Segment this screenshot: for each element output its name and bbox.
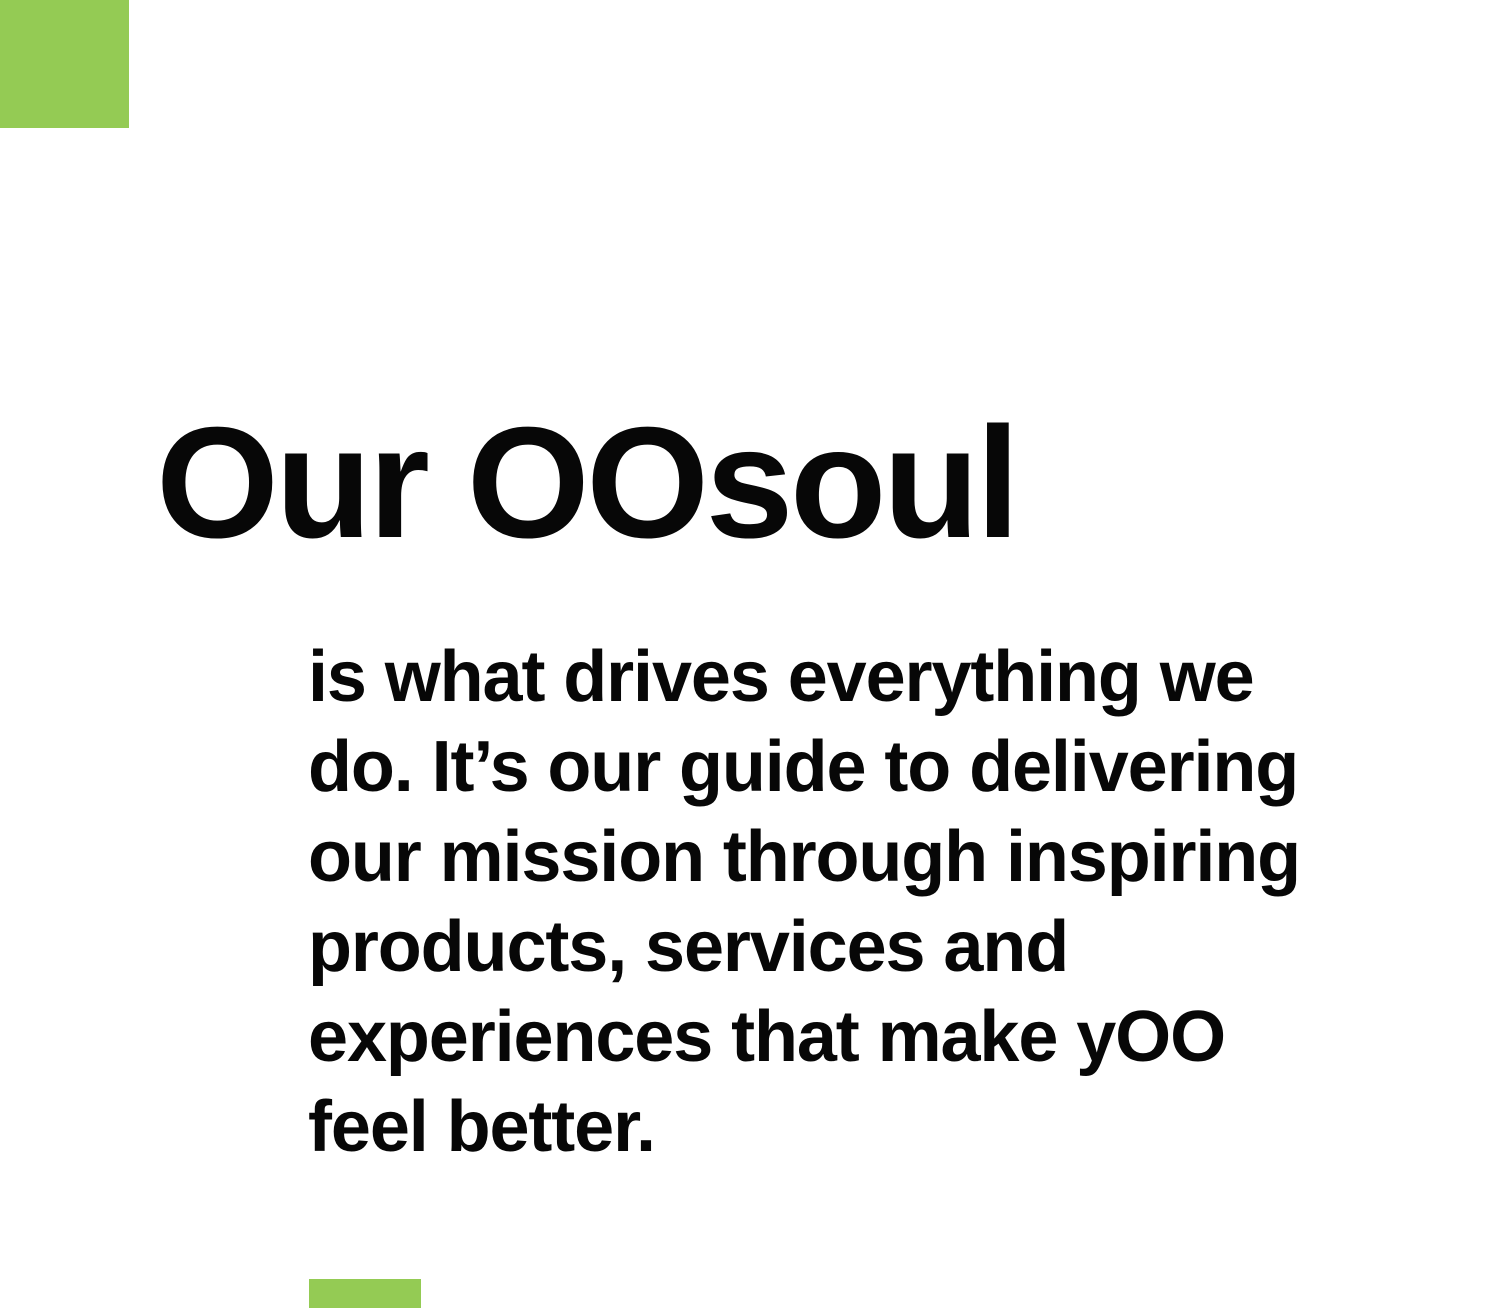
slide-canvas: Our OOsoul is what drives everything we … <box>0 0 1500 1308</box>
body-line-2: do. It’s our guide to delivering <box>308 722 1500 812</box>
page-title: Our OOsoul <box>156 404 1016 562</box>
green-bar-accent <box>309 1279 421 1308</box>
body-line-3: our mission through inspiring <box>308 812 1500 902</box>
body-line-5: experiences that make yOO <box>308 992 1500 1082</box>
body-line-6: feel better. <box>308 1082 1500 1172</box>
green-square-accent <box>0 0 129 128</box>
body-line-1: is what drives everything we <box>308 632 1500 722</box>
body-line-4: products, services and <box>308 902 1500 992</box>
body-copy-block: is what drives everything we do. It’s ou… <box>308 632 1500 1172</box>
